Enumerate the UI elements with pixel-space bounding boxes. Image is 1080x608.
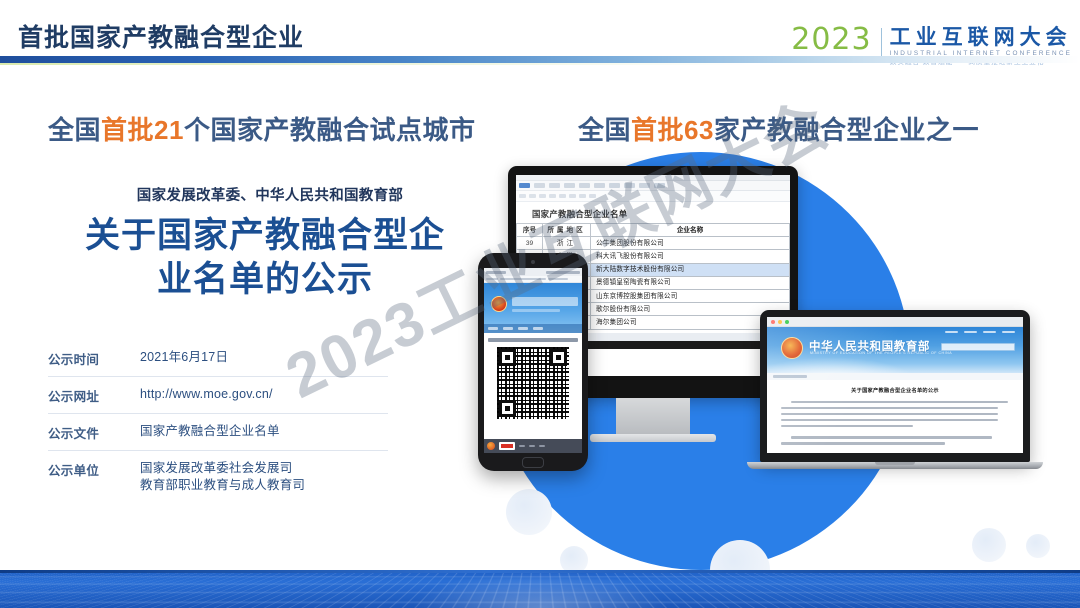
breadcrumb-text <box>773 375 807 377</box>
macbook-notch <box>875 462 915 465</box>
ribbon-tab[interactable] <box>534 183 545 188</box>
slide-header: 首批国家产教融合型企业 2023 中国·苏州 8月18日-19日 工业互联网大会… <box>0 0 1080 56</box>
slide-root: 首批国家产教融合型企业 2023 中国·苏州 8月18日-19日 工业互联网大会… <box>0 0 1080 608</box>
document-title: 关于国家产教融合型企 业名单的公示 <box>40 214 490 302</box>
header-divider-bar <box>0 56 1080 63</box>
cell-company: 山东京博控股集团有限公司 <box>591 289 790 302</box>
mobile-tab-row <box>484 276 582 283</box>
bottom-bar-item[interactable] <box>539 445 545 447</box>
home-button-icon[interactable] <box>522 457 544 468</box>
column-header-province: 所属地区 <box>543 224 591 237</box>
footer-glow <box>410 570 669 608</box>
headline-left-accent: 首批21 <box>101 115 184 145</box>
bottom-bar-item[interactable] <box>529 445 535 447</box>
info-row: 公示文件 国家产教融合型企业名单 <box>48 414 388 451</box>
toolbar-button[interactable] <box>589 194 596 198</box>
document-heading-block: 国家发展改革委、中华人民共和国教育部 关于国家产教融合型企 业名单的公示 <box>40 184 490 302</box>
cell-province: 浙江 <box>543 237 591 250</box>
toolbar-button[interactable] <box>549 194 556 198</box>
nav-item[interactable] <box>488 327 498 330</box>
mobile-nav-bar <box>484 324 582 333</box>
app-badge-icon[interactable] <box>499 442 515 450</box>
moe-site-title-en: MINISTRY OF EDUCATION OF THE PEOPLE'S RE… <box>810 351 952 355</box>
info-row: 公示网址 http://www.moe.gov.cn/ <box>48 377 388 414</box>
headline-right-prefix: 全国 <box>578 115 631 145</box>
macbook-screen: 中华人民共和国教育部 MINISTRY OF EDUCATION OF THE … <box>767 317 1023 453</box>
device-mockups: 国家产教融合型企业名单 序号 所属地区 企业名称 <box>0 0 1080 608</box>
headline-left: 全国首批21个国家产教融合试点城市 <box>48 110 475 147</box>
cell-company: 新大陆数字技术股份有限公司 <box>591 263 790 276</box>
browser-chrome <box>767 317 1023 327</box>
toolbar-button[interactable] <box>529 194 536 198</box>
cell-company: 景德镇皇窑陶瓷有限公司 <box>591 276 790 289</box>
headline-right-accent: 首批63 <box>631 115 714 145</box>
info-key: 公示网址 <box>48 386 140 405</box>
search-input[interactable] <box>941 343 1015 351</box>
document-title-line1: 关于国家产教融合型企 <box>40 214 490 258</box>
headline-right: 全国首批63家产教融合型企业之一 <box>578 110 979 147</box>
qr-code-icon <box>497 347 569 419</box>
nav-item[interactable] <box>503 327 513 330</box>
headline-left-suffix: 个国家产教融合试点城市 <box>184 115 476 145</box>
info-row: 公示时间 2021年6月17日 <box>48 340 388 377</box>
spreadsheet-toolbar <box>516 191 790 202</box>
macbook-mockup: 中华人民共和国教育部 MINISTRY OF EDUCATION OF THE … <box>760 310 1030 469</box>
qr-finder-pattern <box>499 400 516 417</box>
bottom-bar-item[interactable] <box>519 445 525 447</box>
imac-stand <box>616 398 690 434</box>
app-icon[interactable] <box>487 442 495 450</box>
ribbon-tab[interactable] <box>579 183 590 188</box>
minimize-icon[interactable] <box>778 320 782 324</box>
table-row[interactable]: 39 浙江 公牛集团股份有限公司 <box>517 237 790 250</box>
qr-finder-pattern <box>499 349 516 366</box>
ribbon-tab[interactable] <box>609 183 620 188</box>
article-title: 关于国家产教融合型企业名单的公示 <box>781 387 1009 394</box>
phone-screen <box>484 268 582 453</box>
imac-base <box>590 434 716 442</box>
nav-link[interactable] <box>945 331 958 333</box>
document-issuer: 国家发展改革委、中华人民共和国教育部 <box>50 184 490 205</box>
article-text-line <box>791 436 992 438</box>
ribbon-tab[interactable] <box>624 183 635 188</box>
info-value-url[interactable]: http://www.moe.gov.cn/ <box>140 386 273 403</box>
table-header-row: 序号 所属地区 企业名称 <box>517 224 790 237</box>
info-value-line2: 教育部职业教育与成人教育司 <box>140 477 305 494</box>
ribbon-tab-active[interactable] <box>519 183 530 188</box>
document-title-line2: 业名单的公示 <box>40 258 490 302</box>
ribbon-tab[interactable] <box>639 183 650 188</box>
info-key: 公示时间 <box>48 349 140 368</box>
article-text-line <box>781 413 998 415</box>
article-text-line <box>781 442 945 444</box>
info-value: 国家发展改革委社会发展司 教育部职业教育与成人教育司 <box>140 460 305 494</box>
ribbon-tab[interactable] <box>594 183 605 188</box>
nav-link[interactable] <box>964 331 977 333</box>
iphone-mockup <box>478 253 588 471</box>
close-icon[interactable] <box>771 320 775 324</box>
column-header-no: 序号 <box>517 224 543 237</box>
sheet-title: 国家产教融合型企业名单 <box>532 208 790 220</box>
info-value: 国家产教融合型企业名单 <box>140 423 280 440</box>
article-text-line <box>781 407 998 409</box>
mobile-site-title <box>512 297 578 306</box>
phone-camera-icon <box>531 260 535 264</box>
header-divider-accent <box>0 63 1080 65</box>
article-text-line <box>781 419 998 421</box>
column-header-name: 企业名称 <box>591 224 790 237</box>
info-row: 公示单位 国家发展改革委社会发展司 教育部职业教育与成人教育司 <box>48 451 388 502</box>
ribbon-tab[interactable] <box>654 183 665 188</box>
page-title: 首批国家产教融合型企业 <box>18 18 304 54</box>
mobile-bottom-bar <box>484 439 582 453</box>
mobile-article-title <box>488 338 578 342</box>
tab-item[interactable] <box>500 278 546 281</box>
toolbar-button[interactable] <box>579 194 586 198</box>
article-body: 关于国家产教融合型企业名单的公示 <box>767 380 1023 445</box>
toolbar-button[interactable] <box>559 194 566 198</box>
headline-right-suffix: 家产教融合型企业之一 <box>714 115 979 145</box>
qr-finder-pattern <box>550 349 567 366</box>
macbook-lid: 中华人民共和国教育部 MINISTRY OF EDUCATION OF THE … <box>760 310 1030 462</box>
mobile-site-banner <box>484 283 582 333</box>
breadcrumb <box>767 373 1023 380</box>
info-value: 2021年6月17日 <box>140 349 228 366</box>
nav-link[interactable] <box>983 331 996 333</box>
ribbon-tab[interactable] <box>549 183 560 188</box>
headline-left-prefix: 全国 <box>48 115 101 145</box>
url-actions <box>546 271 580 274</box>
national-emblem-icon <box>781 337 803 359</box>
announcement-info-table: 公示时间 2021年6月17日 公示网址 http://www.moe.gov.… <box>48 340 388 502</box>
info-value-line1: 国家发展改革委社会发展司 <box>140 460 305 477</box>
tab-item[interactable] <box>548 278 568 281</box>
article-text-line <box>781 425 913 427</box>
info-key: 公示文件 <box>48 423 140 442</box>
cell-company: 公牛集团股份有限公司 <box>591 237 790 250</box>
maximize-icon[interactable] <box>785 320 789 324</box>
national-emblem-icon <box>491 296 507 312</box>
toolbar-button[interactable] <box>569 194 576 198</box>
logo-name-cn: 工业互联网大会 <box>890 27 1072 49</box>
nav-link[interactable] <box>1002 331 1015 333</box>
info-key: 公示单位 <box>48 460 140 479</box>
logo-year-number: 2023 <box>791 26 871 54</box>
article-text-line <box>791 401 1008 403</box>
toolbar-button[interactable] <box>539 194 546 198</box>
spreadsheet-ribbon-tabs <box>516 181 790 191</box>
moe-site-header: 中华人民共和国教育部 MINISTRY OF EDUCATION OF THE … <box>767 327 1023 373</box>
mobile-site-subtitle <box>512 309 560 312</box>
mobile-browser-urlbar[interactable] <box>484 268 582 276</box>
macbook-base <box>747 462 1043 469</box>
toolbar-button[interactable] <box>519 194 526 198</box>
nav-item[interactable] <box>533 327 543 330</box>
nav-item[interactable] <box>518 327 528 330</box>
moe-top-nav <box>945 331 1015 333</box>
ribbon-tab[interactable] <box>564 183 575 188</box>
cell-no: 39 <box>517 237 543 250</box>
cell-company: 科大讯飞股份有限公司 <box>591 250 790 263</box>
